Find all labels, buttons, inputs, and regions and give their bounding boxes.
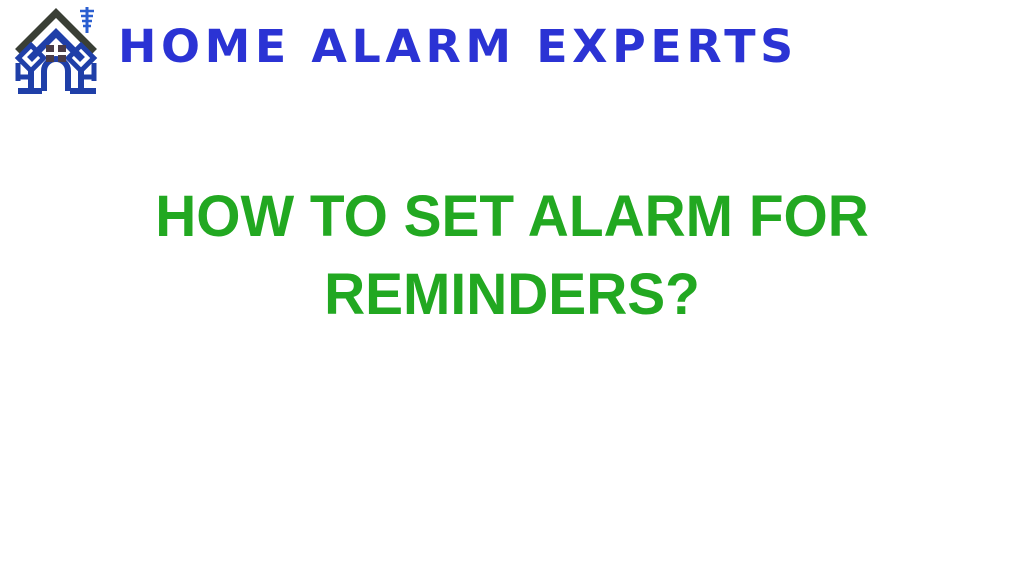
page-title-line-1: HOW TO SET ALARM FOR — [10, 178, 1014, 256]
house-alarm-logo-icon — [8, 3, 104, 97]
slide-canvas: HOME ALARM EXPERTS HOW TO SET ALARM FOR … — [0, 0, 1024, 576]
page-title: HOW TO SET ALARM FOR REMINDERS? — [10, 178, 1014, 334]
page-title-line-2: REMINDERS? — [10, 256, 1014, 334]
brand-wordmark: HOME ALARM EXPERTS — [118, 24, 798, 69]
brand-header: HOME ALARM EXPERTS — [0, 0, 1024, 104]
